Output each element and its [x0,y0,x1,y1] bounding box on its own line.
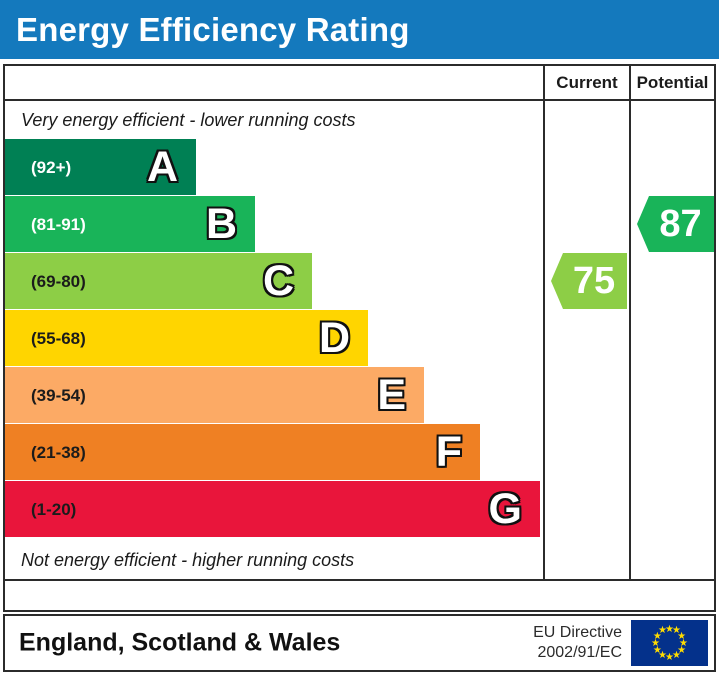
band-row-c: (69-80)C [5,253,312,309]
header-blank-cell [5,66,543,99]
band-row-d: (55-68)D [5,310,368,366]
rating-table: Current Potential Very energy efficient … [3,64,716,612]
band-range-b: (81-91) [31,216,86,233]
bands-bottom-divider [5,579,714,581]
band-range-f: (21-38) [31,444,86,461]
band-range-e: (39-54) [31,387,86,404]
band-range-d: (55-68) [31,330,86,347]
table-header-row: Current Potential [5,66,714,101]
page-title: Energy Efficiency Rating [16,11,410,49]
chart-footer: England, Scotland & Wales EU Directive 2… [3,614,716,672]
band-row-e: (39-54)E [5,367,424,423]
current-rating-arrow: 75 [551,253,627,309]
band-letter-d: D [319,317,350,360]
chart-title-bar: Energy Efficiency Rating [0,0,719,59]
band-letter-a: A [147,146,178,189]
directive-line-1: EU Directive [533,623,622,643]
band-range-c: (69-80) [31,273,86,290]
band-range-g: (1-20) [31,501,76,518]
band-letter-f: F [436,431,462,474]
footer-directive: EU Directive 2002/91/EC [533,623,622,663]
band-row-f: (21-38)F [5,424,480,480]
band-row-b: (81-91)B [5,196,255,252]
footer-region-label: England, Scotland & Wales [19,629,340,658]
band-letter-c: C [263,260,294,303]
directive-line-2: 2002/91/EC [533,643,622,663]
caption-inefficient: Not energy efficient - higher running co… [5,541,543,579]
band-letter-b: B [206,203,237,246]
potential-rating-arrow: 87 [637,196,714,252]
eu-flag-icon: ★★★★★★★★★★★★ [631,620,708,666]
energy-efficiency-rating-chart: Energy Efficiency Rating Current Potenti… [0,0,719,675]
band-range-a: (92+) [31,159,71,176]
caption-efficient: Very energy efficient - lower running co… [5,101,543,139]
eu-star-icon: ★ [658,626,667,635]
band-list: (92+)A(81-91)B(69-80)C(55-68)D(39-54)E(2… [5,139,543,541]
column-header-current: Current [543,66,629,99]
column-separator-potential [629,101,631,579]
column-header-potential: Potential [629,66,714,99]
column-separator-current [543,101,545,579]
band-row-a: (92+)A [5,139,196,195]
band-letter-g: G [489,488,522,531]
band-row-g: (1-20)G [5,481,540,537]
band-letter-e: E [377,374,406,417]
